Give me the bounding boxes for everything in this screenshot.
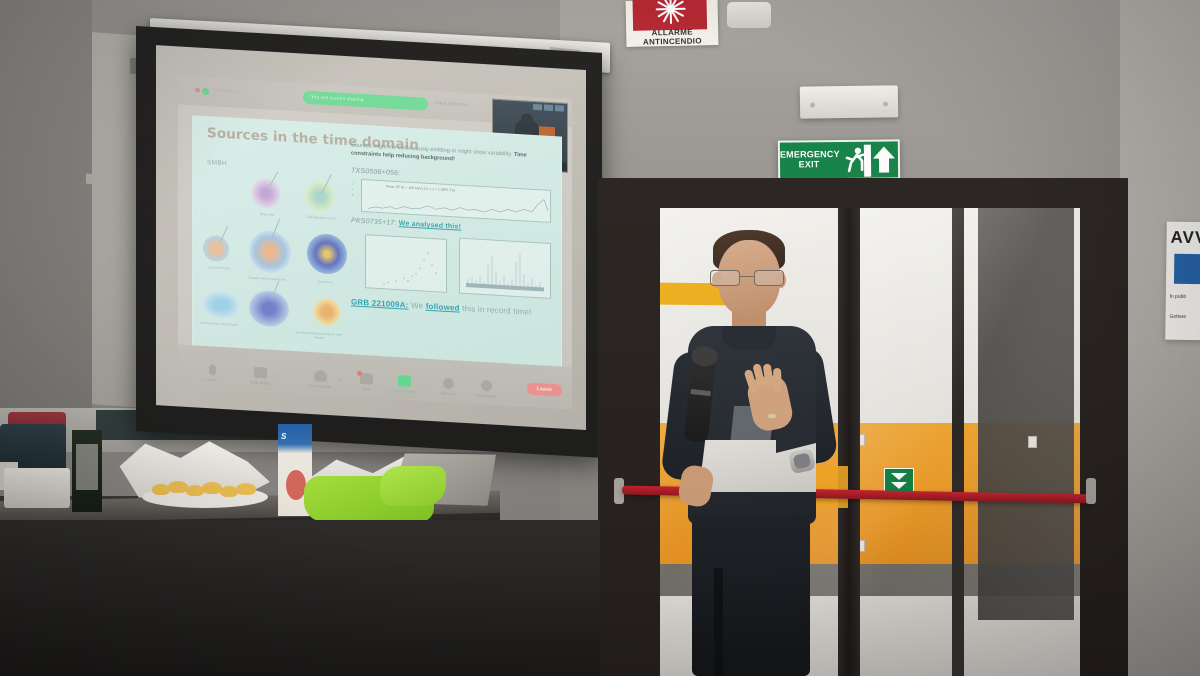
alarm-core-icon xyxy=(667,6,673,12)
maximize-icon[interactable] xyxy=(544,105,553,112)
presenter xyxy=(658,228,848,676)
tde-icon xyxy=(305,181,335,213)
minimize-icon[interactable] xyxy=(533,104,542,111)
camera-icon xyxy=(254,367,267,379)
watch-face xyxy=(793,452,812,469)
eyeglasses xyxy=(710,270,790,286)
lightcurve-spikes xyxy=(460,239,552,300)
share-screen-button[interactable]: Share Screen xyxy=(384,374,424,394)
juice-carton-dark xyxy=(72,430,102,512)
finger-ring xyxy=(768,414,776,418)
emergency-light-fixture xyxy=(800,85,898,118)
source-label-grb: GRB 221009A: We followed this in record … xyxy=(351,297,532,316)
green-plastic-bag-second xyxy=(380,466,446,506)
leg-separation xyxy=(714,568,723,676)
white-packaging xyxy=(4,468,70,508)
slide-lead-text: Sources might me continuously emitting o… xyxy=(351,141,549,169)
leave-button[interactable]: Leave xyxy=(527,383,562,397)
thumbnail-window-controls[interactable] xyxy=(516,103,564,113)
reactions-button[interactable]: Reactions xyxy=(466,379,506,399)
fire-alarm-pictogram xyxy=(632,0,707,31)
participants-count: 10 xyxy=(338,377,342,382)
running-man-icon xyxy=(838,142,871,178)
source3-post: this in record time! xyxy=(462,304,531,317)
notice-line1: ln pubb xyxy=(1170,294,1186,300)
recording-dot-icon xyxy=(195,87,200,92)
shock-emission-icon xyxy=(313,297,341,327)
diagram-caption: Compton-driven supernova xyxy=(243,275,291,282)
diagram-caption: Tidal disruption event xyxy=(297,214,345,221)
fire-alarm-line2: ANTINCENDIO xyxy=(626,36,718,47)
participants-button[interactable]: Participants xyxy=(300,369,340,389)
chat-unread-badge xyxy=(357,371,362,376)
presentation-slide: Sources in the time domain SMBH Sources … xyxy=(192,115,562,374)
glasses-bridge xyxy=(740,276,754,277)
smoke-detector xyxy=(727,2,771,28)
emergency-exit-sign: EMERGENCY EXIT xyxy=(778,139,900,180)
left-wall-edge xyxy=(0,0,92,416)
chat-bubble-icon xyxy=(360,373,373,385)
mute-chevron-down-icon[interactable]: ^ xyxy=(230,370,232,375)
alarm-burst-icon xyxy=(652,0,687,26)
participants-label: Participants xyxy=(300,382,340,389)
projected-zoom-window: Recording You are screen sharing View Op… xyxy=(178,76,572,409)
notice-pictogram xyxy=(1174,254,1200,284)
fire-alarm-sign: ALLARME ANTINCENDIO xyxy=(626,0,719,47)
conference-room-photo: Recording You are screen sharing View Op… xyxy=(0,0,1200,676)
left-lens xyxy=(710,270,740,286)
astro-diagram-cluster: Binary BH Tidal disruption event Long-li… xyxy=(201,173,347,353)
diagram-caption: Long-lived burst xyxy=(195,264,243,271)
emergency-exit-text: EMERGENCY EXIT xyxy=(780,150,838,170)
diagram-caption: Binary BH xyxy=(243,211,291,218)
presenter-legs xyxy=(692,514,810,676)
source2-name: PKS0735+17: xyxy=(351,217,397,227)
fire-alarm-text: ALLARME ANTINCENDIO xyxy=(626,27,718,47)
lightcurve-plot-txs0506: Flare >E² (E > 100 GeV) 0.1 < z < 1 (95%… xyxy=(361,179,551,223)
mute-button[interactable]: Mute xyxy=(192,363,232,383)
finger xyxy=(773,368,782,392)
stop-video-button[interactable]: Stop Video xyxy=(240,366,280,386)
source3-name[interactable]: GRB 221009A: xyxy=(351,297,409,309)
wall-notice-poster: AVVISO ln pubb Gettare xyxy=(1165,222,1200,341)
diagram-caption: Shock-accelerated emission after merger xyxy=(295,330,343,341)
long-burst-icon xyxy=(203,235,229,262)
live-dot-icon xyxy=(202,88,209,95)
supernova-icon xyxy=(307,233,347,275)
potato-chips xyxy=(152,480,260,500)
chevron-down-icon xyxy=(891,482,907,489)
source-label-pks0735: PKS0735+17: We analysed this! xyxy=(351,217,461,230)
projection-screen: Recording You are screen sharing View Op… xyxy=(136,26,602,458)
thumbnail-head xyxy=(521,113,533,126)
record-icon xyxy=(443,378,454,390)
arrow-up-icon xyxy=(871,141,898,177)
reactions-icon xyxy=(481,380,492,392)
chevron-down-icon xyxy=(891,473,907,480)
microphone-band xyxy=(690,389,710,396)
chat-button[interactable]: Chat xyxy=(346,372,386,392)
record-button[interactable]: Record xyxy=(428,377,468,397)
scatter-points xyxy=(366,235,448,294)
chat-label: Chat xyxy=(346,385,386,392)
merger-disk-icon xyxy=(249,290,289,328)
video-chevron-down-icon[interactable]: ^ xyxy=(278,373,280,378)
diagram-caption: Supernova xyxy=(301,279,349,286)
stop-video-label: Stop Video xyxy=(240,379,280,386)
source3-link[interactable]: followed xyxy=(426,302,460,313)
compton-sn-icon xyxy=(249,230,291,274)
binary-bh-icon xyxy=(251,178,281,210)
plot-y-axis-labels: Jis xyxy=(352,181,354,198)
juice-brand-logo: S xyxy=(281,432,309,444)
lightcurve-plot-right xyxy=(459,238,551,299)
close-icon[interactable] xyxy=(555,105,564,112)
source-label-txs0506: TXS0506+056: xyxy=(351,167,400,177)
notice-title: AVVISO xyxy=(1170,228,1200,249)
microphone-icon xyxy=(209,364,216,375)
screen-surface: Recording You are screen sharing View Op… xyxy=(156,45,586,430)
record-label: Record xyxy=(428,390,468,397)
right-lens xyxy=(754,270,784,286)
share-screen-icon xyxy=(398,375,411,387)
share-screen-label: Share Screen xyxy=(384,387,424,394)
screen-share-banner xyxy=(303,91,428,111)
juice-fruit-graphic xyxy=(286,470,306,500)
polo-collar xyxy=(722,326,776,350)
neutron-merger-icon xyxy=(203,291,239,319)
reactions-label: Reactions xyxy=(466,392,506,399)
door-glass-right xyxy=(860,208,1080,676)
slide-smbh-label: SMBH xyxy=(207,159,227,167)
mute-label: Mute xyxy=(192,376,232,383)
view-options-dropdown[interactable]: View Options xyxy=(435,100,467,108)
notice-line2: Gettare xyxy=(1169,314,1186,320)
recording-label: Recording xyxy=(214,87,240,95)
diagram-caption: Neutron-burst, fast merger xyxy=(195,320,243,327)
foreground-shadow xyxy=(0,520,600,676)
people-icon xyxy=(314,370,327,382)
exit-line2: EXIT xyxy=(780,160,838,170)
crash-bar-bracket-right xyxy=(1086,478,1096,504)
scatter-plot-left xyxy=(365,234,447,293)
plot-curve xyxy=(362,180,552,224)
source3-pre: We xyxy=(411,301,423,311)
source2-link[interactable]: We analysed this! xyxy=(399,220,461,231)
